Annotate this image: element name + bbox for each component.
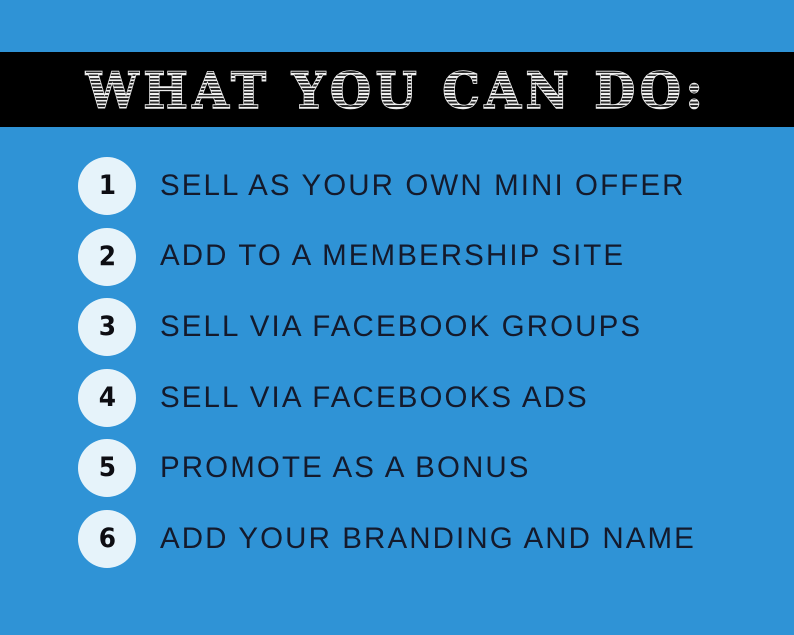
badge-number: 2	[98, 243, 115, 270]
badge-number: 1	[98, 172, 115, 199]
list-item: 4 SELL VIA FACEBOOKS ADS	[78, 369, 589, 427]
list-item-label: SELL VIA FACEBOOKS ADS	[160, 383, 589, 413]
list-item-label: ADD YOUR BRANDING AND NAME	[160, 524, 696, 554]
badge-number: 4	[98, 384, 115, 411]
title-wrap: WHAT YOU CAN DO: WHAT YOU CAN DO:	[66, 66, 727, 116]
badge-circle-6: 6	[78, 510, 136, 568]
badge-circle-2: 2	[78, 228, 136, 286]
list-item-label: SELL VIA FACEBOOK GROUPS	[160, 312, 642, 342]
badge-number: 5	[98, 454, 115, 481]
list-item: 3 SELL VIA FACEBOOK GROUPS	[78, 298, 642, 356]
list-item: 2 ADD TO A MEMBERSHIP SITE	[78, 228, 625, 286]
poster-canvas: WHAT YOU CAN DO: WHAT YOU CAN DO: 1 SELL…	[0, 0, 794, 635]
badge-circle-3: 3	[78, 298, 136, 356]
page-title: WHAT YOU CAN DO:	[86, 66, 708, 116]
badge-number: 3	[98, 313, 115, 340]
title-banner: WHAT YOU CAN DO: WHAT YOU CAN DO:	[0, 52, 794, 127]
list-item-label: PROMOTE AS A BONUS	[160, 453, 531, 483]
badge-circle-1: 1	[78, 157, 136, 215]
list-item: 1 SELL AS YOUR OWN MINI OFFER	[78, 157, 686, 215]
badge-number: 6	[98, 525, 115, 552]
list-item: 6 ADD YOUR BRANDING AND NAME	[78, 510, 696, 568]
badge-circle-5: 5	[78, 439, 136, 497]
badge-circle-4: 4	[78, 369, 136, 427]
list-item-label: ADD TO A MEMBERSHIP SITE	[160, 241, 625, 271]
list-item-label: SELL AS YOUR OWN MINI OFFER	[160, 171, 686, 201]
list-item: 5 PROMOTE AS A BONUS	[78, 439, 531, 497]
